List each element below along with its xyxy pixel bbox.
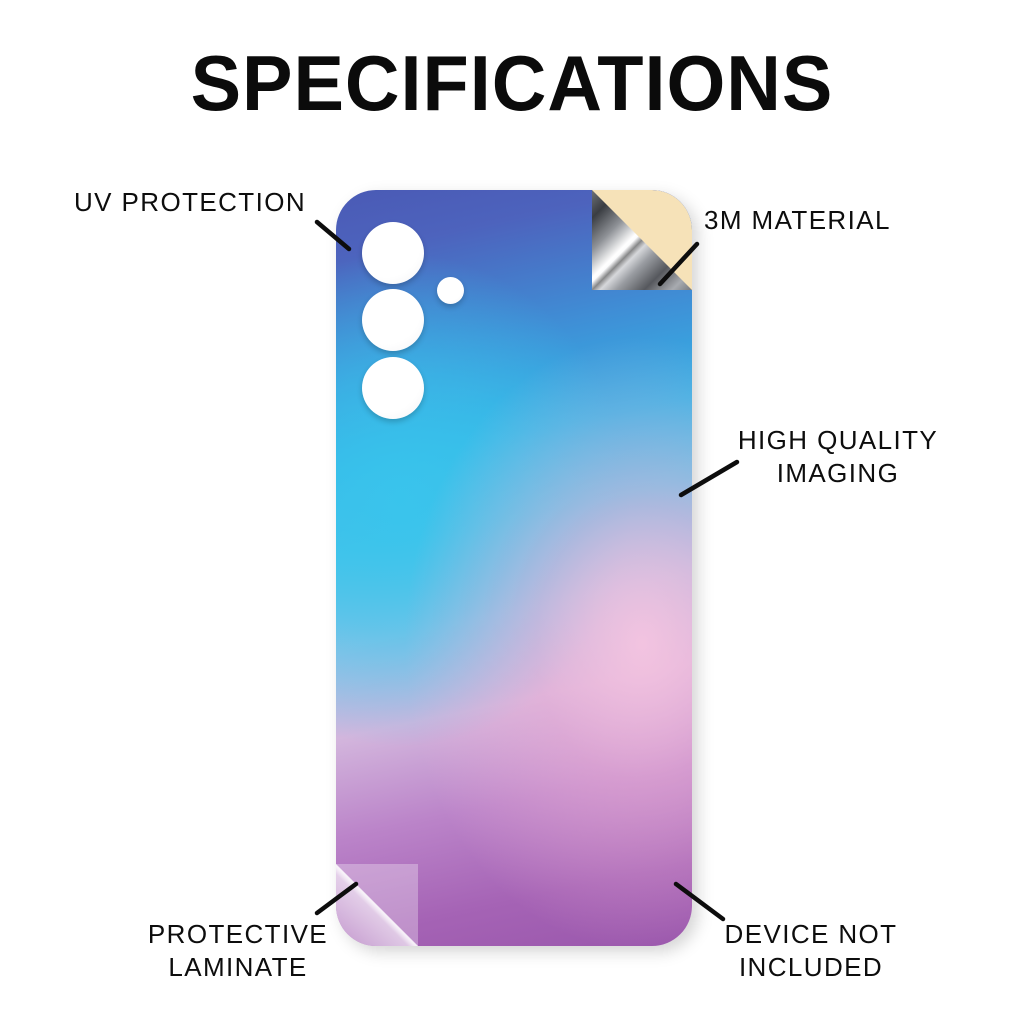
skin-gradient-surface (336, 190, 692, 946)
camera-lens-2 (362, 289, 424, 351)
phone-skin-graphic (336, 190, 692, 946)
3m-material-peel-corner (592, 190, 692, 290)
callout-label-uv-protection: UV PROTECTION (74, 186, 306, 219)
camera-lens-3 (362, 357, 424, 419)
flash-cutout (437, 277, 464, 304)
callout-label-protective-laminate: PROTECTIVE LAMINATE (146, 918, 330, 984)
camera-lens-1 (362, 222, 424, 284)
specifications-infographic: SPECIFICATIONS UV PROTECT (0, 0, 1024, 1024)
callout-label-3m-material: 3M MATERIAL (704, 204, 891, 237)
callout-label-high-quality-imaging: HIGH QUALITY IMAGING (728, 424, 948, 490)
protective-laminate-peel-corner (336, 864, 418, 946)
callout-label-device-not-included: DEVICE NOT INCLUDED (716, 918, 906, 984)
page-title: SPECIFICATIONS (15, 44, 1008, 122)
